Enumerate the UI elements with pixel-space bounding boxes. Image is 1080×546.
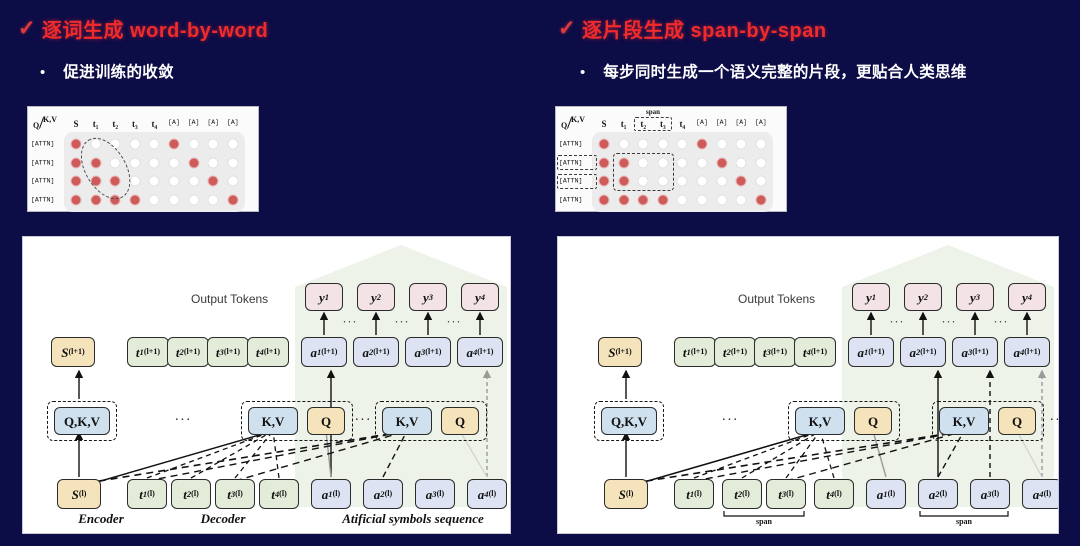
attention-cell-inactive (129, 176, 140, 187)
attention-cell-inactive (697, 194, 708, 205)
ellipsis-mid-1: ··· (175, 413, 192, 429)
bullet-row-left: • 促进训练的收敛 (40, 60, 174, 82)
box-t-upper-1: t1(l+1) (127, 337, 169, 367)
box-t-lower-2: t2(l) (722, 479, 762, 509)
box-kv-2: K,V (382, 407, 432, 435)
attention-cell-inactive (677, 194, 688, 205)
attention-cell-inactive (755, 139, 766, 150)
attention-cell-active (618, 176, 629, 187)
page-title-left: 逐词生成 word-by-word (42, 14, 268, 43)
attention-cell-inactive (169, 157, 180, 168)
attention-cell-inactive (736, 157, 747, 168)
box-y-3: y3 (956, 283, 994, 311)
box-y-2: y2 (904, 283, 942, 311)
box-a-lower-3: a3(l) (970, 479, 1010, 509)
box-t-lower-3: t3(l) (766, 479, 806, 509)
box-t-upper-2: t2(l+1) (167, 337, 209, 367)
attention-cell-active (618, 194, 629, 205)
attention-matrix-span: QK,VSt₁t₂t₃t₄[A][A][A][A][ATTN][ATTN][AT… (555, 106, 787, 212)
attention-corner-q: Q (33, 121, 39, 130)
attention-cell-inactive (110, 139, 121, 150)
box-a-upper-3: a3(l+1) (952, 337, 998, 367)
attention-col-header: t₁ (621, 119, 627, 129)
attention-cell-inactive (736, 139, 747, 150)
attention-cell-active (71, 157, 82, 168)
attention-cell-inactive (227, 176, 238, 187)
attention-col-header: [A] (207, 119, 219, 126)
box-t-upper-4: t4(l+1) (794, 337, 836, 367)
ellipsis-mid-2: ··· (355, 413, 372, 429)
attention-cell-inactive (188, 139, 199, 150)
attention-col-header: t₄ (680, 119, 686, 129)
attention-cell-active (110, 176, 121, 187)
attention-col-header: t₂ (640, 119, 646, 129)
box-a-lower-1: a1(l) (866, 479, 906, 509)
attention-cell-active (716, 157, 727, 168)
box-t-lower-3: t3(l) (215, 479, 255, 509)
attention-cell-inactive (638, 139, 649, 150)
attention-cell-inactive (110, 157, 121, 168)
box-a-lower-2: a2(l) (918, 479, 958, 509)
box-s-lower: S(l) (604, 479, 648, 509)
attention-col-header: [A] (716, 119, 728, 126)
attention-cell-inactive (697, 176, 708, 187)
bullet-text-right: 每步同时生成一个语义完整的片段，更贴合人类思维 (603, 60, 966, 82)
ellipsis-upper-1: ··· (890, 315, 905, 330)
attention-cell-inactive (736, 194, 747, 205)
attention-cell-inactive (657, 157, 668, 168)
attention-cell-active (599, 139, 610, 150)
attention-cell-active (90, 194, 101, 205)
attention-cell-active (110, 194, 121, 205)
box-y-1: y1 (852, 283, 890, 311)
attention-cell-active (599, 194, 610, 205)
attention-col-header: t₄ (152, 119, 158, 129)
box-a-upper-2: a2(l+1) (900, 337, 946, 367)
attention-cell-inactive (716, 139, 727, 150)
attention-corner-q: Q (561, 121, 567, 130)
box-a-upper-1: a1(l+1) (848, 337, 894, 367)
attention-cell-active (618, 157, 629, 168)
attention-cell-inactive (129, 139, 140, 150)
box-a-lower-2: a2(l) (363, 479, 403, 509)
attention-col-header: [A] (227, 119, 239, 126)
attention-col-header: [A] (735, 119, 747, 126)
check-icon-right: ✓ (558, 18, 576, 39)
box-y-1: y1 (305, 283, 343, 311)
bullet-row-right: • 每步同时生成一个语义完整的片段，更贴合人类思维 (580, 60, 967, 82)
diagram-caption-1: Encoder (78, 511, 124, 527)
attention-cell-inactive (208, 139, 219, 150)
box-t-upper-4: t4(l+1) (247, 337, 289, 367)
attention-cell-active (90, 176, 101, 187)
attention-cell-inactive (755, 176, 766, 187)
attention-cell-inactive (90, 139, 101, 150)
attention-cell-inactive (638, 157, 649, 168)
attention-cell-inactive (697, 157, 708, 168)
attention-row-header: [ATTN] (559, 159, 582, 166)
attention-cell-inactive (227, 157, 238, 168)
attention-cell-inactive (149, 194, 160, 205)
box-qkv: Q,K,V (54, 407, 110, 435)
attention-col-header: [A] (188, 119, 200, 126)
ellipsis-upper-2: ··· (395, 315, 410, 330)
box-y-3: y3 (409, 283, 447, 311)
attention-span-caption: span (646, 108, 660, 116)
diagram-caption-3: Atificial symbols sequence (342, 511, 484, 527)
box-kv-2: K,V (939, 407, 989, 435)
box-a-lower-3: a3(l) (415, 479, 455, 509)
bullet-text-left: 促进训练的收敛 (63, 60, 174, 82)
attention-cell-inactive (716, 194, 727, 205)
slide-root: ✓ 逐词生成 word-by-word • 促进训练的收敛 QK,VSt₁t₂t… (0, 0, 1080, 546)
attention-cell-active (736, 176, 747, 187)
attention-cell-inactive (755, 157, 766, 168)
box-t-lower-1: t1(l) (674, 479, 714, 509)
attention-cell-inactive (129, 157, 140, 168)
attention-col-header: t₁ (93, 119, 99, 129)
box-a-lower-1: a1(l) (311, 479, 351, 509)
check-icon-left: ✓ (18, 18, 36, 39)
ellipsis-upper-3: ··· (447, 315, 462, 330)
page-title-right: 逐片段生成 span-by-span (582, 14, 827, 43)
attention-cell-inactive (208, 194, 219, 205)
box-t-upper-3: t3(l+1) (207, 337, 249, 367)
attention-cell-inactive (227, 139, 238, 150)
attention-cell-inactive (208, 157, 219, 168)
attention-cell-active (188, 157, 199, 168)
attention-cell-inactive (618, 139, 629, 150)
attention-cell-active (71, 194, 82, 205)
attention-col-header: t₂ (112, 119, 118, 129)
attention-cell-inactive (677, 157, 688, 168)
bullet-marker-right: • (580, 65, 585, 80)
box-t-upper-3: t3(l+1) (754, 337, 796, 367)
box-q-2: Q (998, 407, 1036, 435)
attention-cell-active (599, 176, 610, 187)
attention-col-header: t₃ (660, 119, 666, 129)
attention-col-header: [A] (696, 119, 708, 126)
attention-col-header: S (73, 119, 78, 129)
box-t-lower-4: t4(l) (259, 479, 299, 509)
attention-cell-active (71, 176, 82, 187)
box-s-lower: S(l) (57, 479, 101, 509)
attention-cell-active (638, 194, 649, 205)
attention-cell-active (657, 194, 668, 205)
attention-cell-inactive (169, 176, 180, 187)
box-a-upper-4: a4(l+1) (1004, 337, 1050, 367)
attention-cell-active (208, 176, 219, 187)
ellipsis-mid-1: ··· (722, 413, 739, 429)
attention-cell-inactive (149, 157, 160, 168)
ellipsis-mid-2: ··· (1050, 413, 1060, 429)
attention-cell-inactive (149, 139, 160, 150)
attention-cell-inactive (188, 194, 199, 205)
box-t-upper-2: t2(l+1) (714, 337, 756, 367)
attention-cell-inactive (657, 176, 668, 187)
attention-row-header: [ATTN] (559, 141, 582, 148)
diagram-caption-2: Decoder (201, 511, 246, 527)
attention-col-header: [A] (168, 119, 180, 126)
attention-cell-inactive (169, 194, 180, 205)
attention-cell-inactive (188, 176, 199, 187)
attention-row-header: [ATTN] (31, 178, 54, 185)
box-q-2: Q (441, 407, 479, 435)
box-q-1: Q (854, 407, 892, 435)
attention-cell-active (169, 139, 180, 150)
box-kv-1: K,V (248, 407, 298, 435)
ellipsis-upper-3: ··· (994, 315, 1009, 330)
attention-col-header: [A] (755, 119, 767, 126)
box-t-lower-4: t4(l) (814, 479, 854, 509)
box-y-2: y2 (357, 283, 395, 311)
box-a-lower-4: a4(l) (1022, 479, 1059, 509)
architecture-diagram-span: S(l+1)t1(l+1)t2(l+1)t3(l+1)t4(l+1)a1(l+1… (557, 236, 1059, 534)
column-word-by-word: ✓ 逐词生成 word-by-word • 促进训练的收敛 QK,VSt₁t₂t… (0, 0, 540, 546)
output-tokens-label: Output Tokens (738, 292, 815, 306)
box-a-upper-2: a2(l+1) (353, 337, 399, 367)
output-tokens-label: Output Tokens (191, 292, 268, 306)
attention-cell-active (697, 139, 708, 150)
box-s-upper: S(l+1) (51, 337, 95, 367)
attention-cell-inactive (149, 176, 160, 187)
box-s-upper: S(l+1) (598, 337, 642, 367)
attention-row-header: [ATTN] (559, 196, 582, 203)
attention-cell-active (90, 157, 101, 168)
box-kv-1: K,V (795, 407, 845, 435)
box-a-upper-3: a3(l+1) (405, 337, 451, 367)
ellipsis-upper-1: ··· (343, 315, 358, 330)
attention-cell-active (599, 157, 610, 168)
attention-row-header: [ATTN] (31, 196, 54, 203)
attention-col-header: S (601, 119, 606, 129)
box-a-lower-4: a4(l) (467, 479, 507, 509)
box-a-upper-4: a4(l+1) (457, 337, 503, 367)
attention-cell-active (129, 194, 140, 205)
box-qkv: Q,K,V (601, 407, 657, 435)
attention-col-header: t₃ (132, 119, 138, 129)
box-t-lower-2: t2(l) (171, 479, 211, 509)
attention-corner-kv: K,V (571, 115, 585, 124)
attention-row-header: [ATTN] (559, 178, 582, 185)
attention-corner-kv: K,V (43, 115, 57, 124)
column-span-by-span: ✓ 逐片段生成 span-by-span • 每步同时生成一个语义完整的片段，更… (540, 0, 1080, 546)
attention-row-header: [ATTN] (31, 159, 54, 166)
span-bracket-label-2: span (956, 517, 972, 526)
box-a-upper-1: a1(l+1) (301, 337, 347, 367)
box-t-upper-1: t1(l+1) (674, 337, 716, 367)
attention-cell-inactive (716, 176, 727, 187)
attention-cell-inactive (657, 139, 668, 150)
attention-row-header: [ATTN] (31, 141, 54, 148)
attention-cell-active (227, 194, 238, 205)
box-t-lower-1: t1(l) (127, 479, 167, 509)
box-y-4: y4 (1008, 283, 1046, 311)
attention-matrix-word: QK,VSt₁t₂t₃t₄[A][A][A][A][ATTN][ATTN][AT… (27, 106, 259, 212)
architecture-diagram-word: S(l+1)t1(l+1)t2(l+1)t3(l+1)t4(l+1)a1(l+1… (22, 236, 511, 534)
box-q-1: Q (307, 407, 345, 435)
attention-cell-inactive (677, 139, 688, 150)
attention-cell-inactive (677, 176, 688, 187)
span-bracket-label-1: span (756, 517, 772, 526)
ellipsis-upper-2: ··· (942, 315, 957, 330)
attention-cell-active (755, 194, 766, 205)
attention-cell-active (71, 139, 82, 150)
bullet-marker-left: • (40, 65, 45, 80)
title-row-right: 逐片段生成 span-by-span (582, 14, 827, 43)
attention-cell-inactive (638, 176, 649, 187)
title-row-left: 逐词生成 word-by-word (42, 14, 268, 43)
box-y-4: y4 (461, 283, 499, 311)
